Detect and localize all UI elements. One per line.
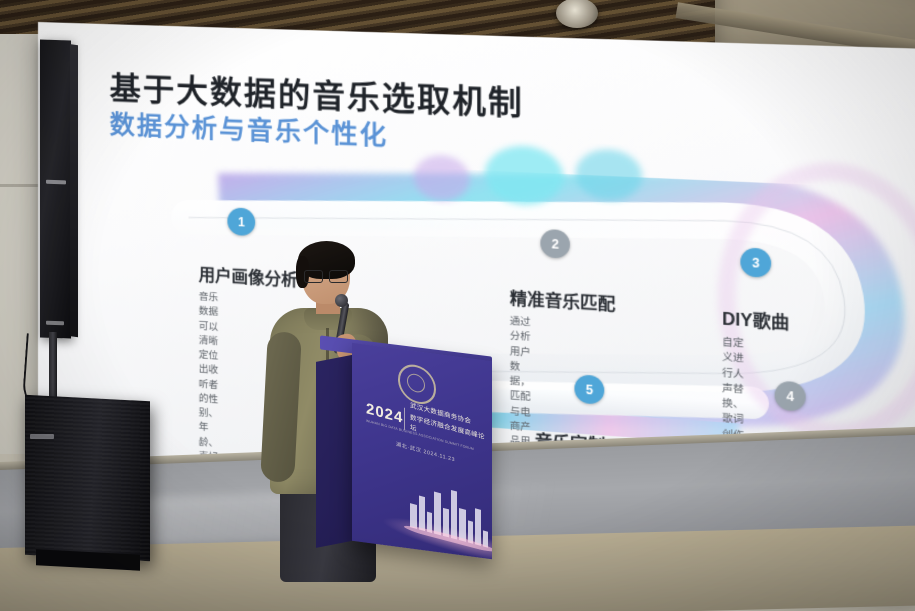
podium-divider — [404, 408, 405, 430]
conference-stage-photo: 基于大数据的音乐选取机制 数据分析与音乐个性化 1 用户画像分析 音乐数据可以清… — [0, 0, 915, 611]
badge-number-2: 2 — [540, 229, 570, 259]
slide-item-3-desc: 自定义进行人声替换、歌词创作 — [722, 335, 744, 443]
slide-item-3-title: DIY歌曲 — [722, 304, 789, 334]
microphone-head — [335, 294, 348, 307]
subwoofer-speaker — [25, 395, 150, 562]
line-array-speaker — [40, 39, 71, 338]
glasses-icon — [304, 270, 348, 281]
podium-side-panel — [316, 354, 356, 548]
speaking-podium: 2024 武汉大数据商务协会 数字经济融合发展高峰论坛 WUHAN BIG DA… — [316, 352, 492, 558]
subwoofer-brand-logo — [30, 434, 54, 439]
speaker-stand — [49, 332, 57, 402]
podium-front-panel: 2024 武汉大数据商务协会 数字经济融合发展高峰论坛 WUHAN BIG DA… — [352, 343, 492, 559]
speaker-brand-logo-lower — [46, 321, 64, 326]
slide-item-1-desc: 音乐数据可以清晰定位出收听者的性别、年龄、喜好等 — [199, 290, 218, 480]
badge-number-1: 1 — [227, 207, 255, 236]
association-emblem-icon — [398, 360, 436, 408]
speaker-brand-logo — [46, 180, 66, 185]
